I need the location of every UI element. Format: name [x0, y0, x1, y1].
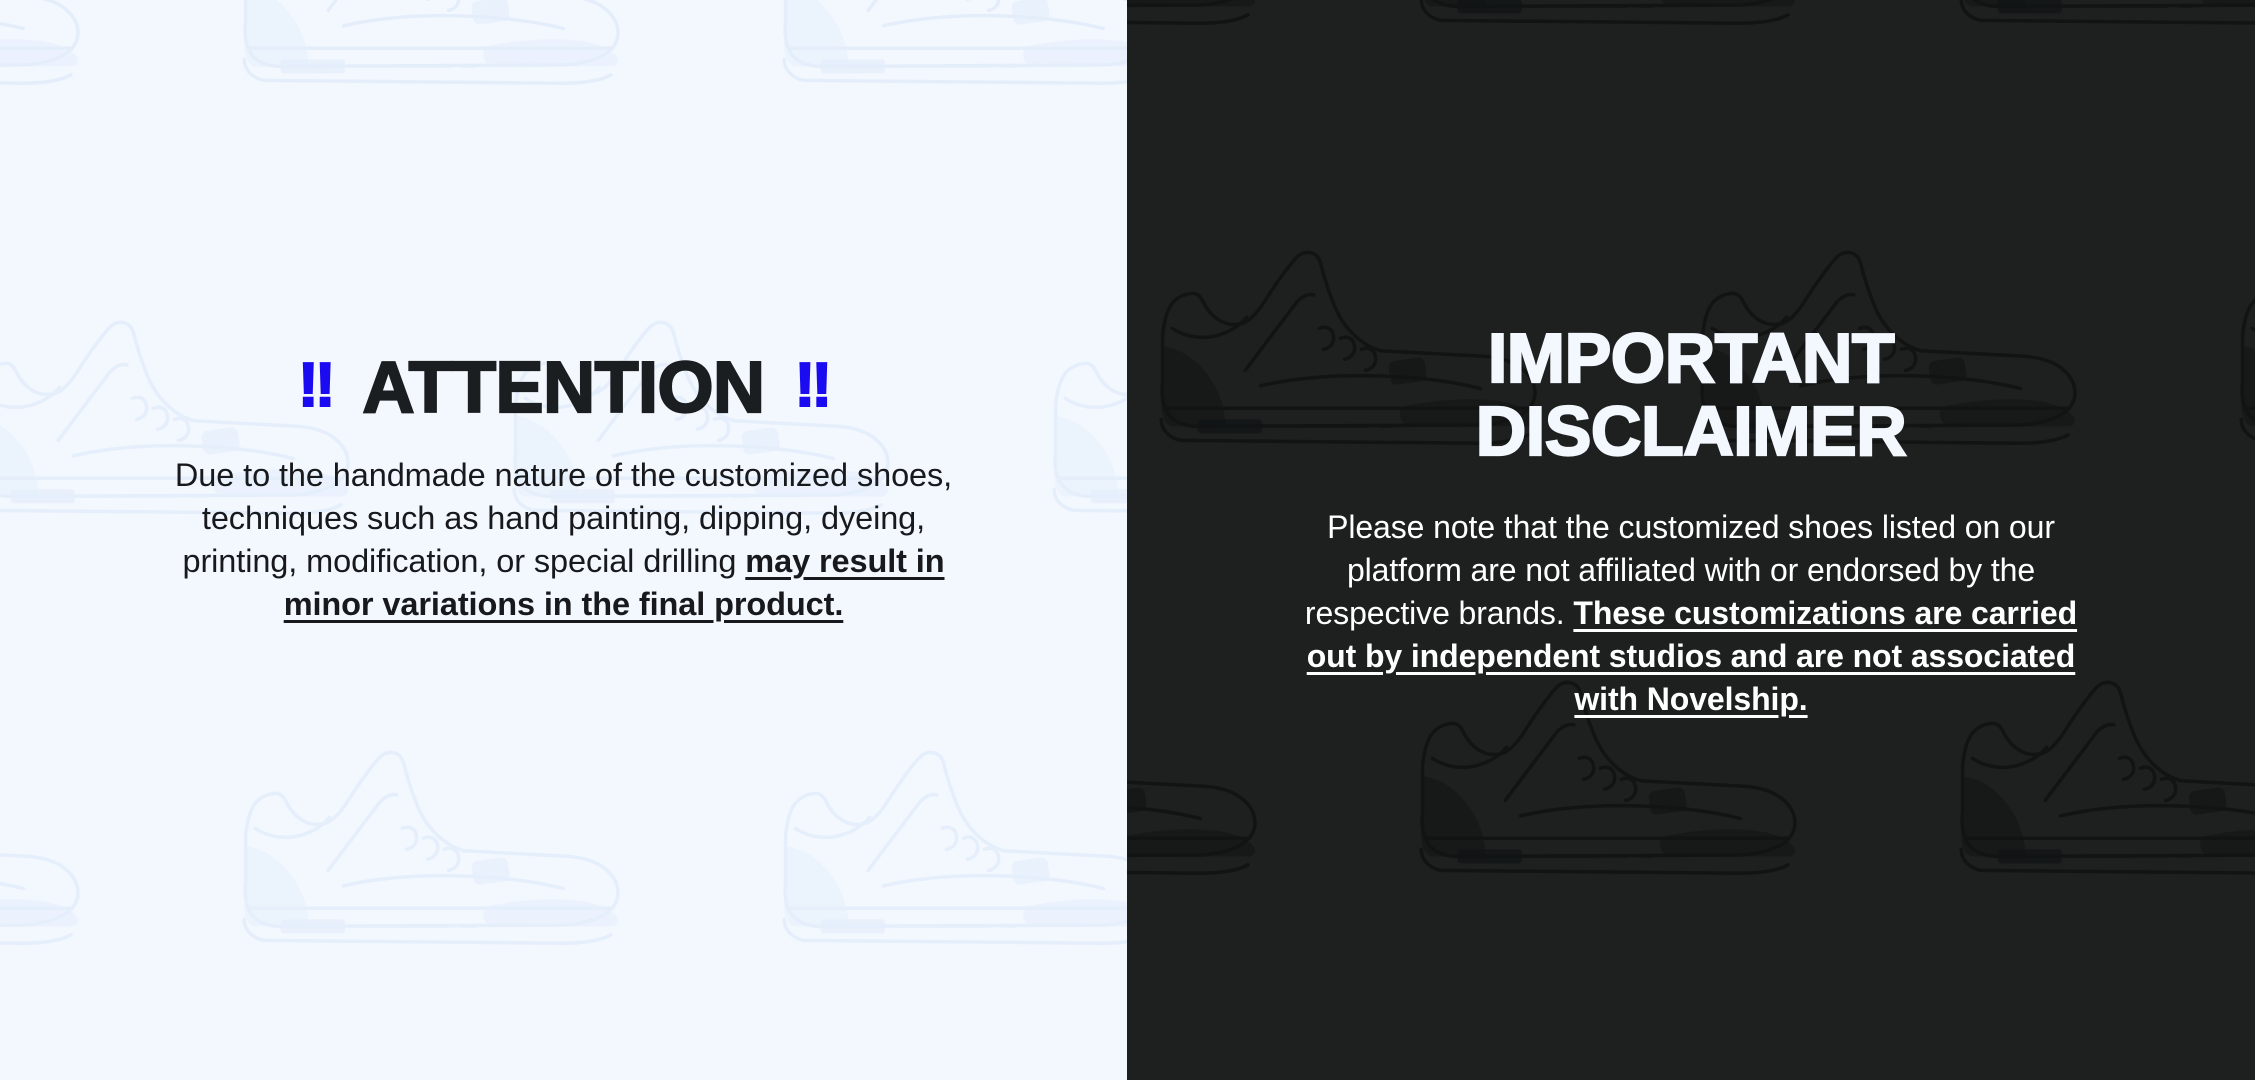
- attention-panel: ‼ ATTENTION ‼ Due to the handmade nature…: [0, 0, 1127, 1080]
- attention-body: Due to the handmade nature of the custom…: [164, 454, 964, 626]
- disclaimer-title-line-2: DISCLAIMER: [1476, 392, 1907, 470]
- disclaimer-title-line-1: IMPORTANT: [1488, 319, 1894, 397]
- double-exclamation-icon-right: ‼: [795, 355, 829, 417]
- attention-content: ‼ ATTENTION ‼ Due to the handmade nature…: [0, 0, 1127, 626]
- attention-title: ATTENTION: [362, 352, 764, 424]
- disclaimer-content: IMPORTANT DISCLAIMER Please note that th…: [1127, 0, 2255, 721]
- attention-heading-row: ‼ ATTENTION ‼: [298, 352, 829, 424]
- disclaimer-body: Please note that the customized shoes li…: [1284, 506, 2099, 721]
- disclaimer-panel: IMPORTANT DISCLAIMER Please note that th…: [1127, 0, 2255, 1080]
- double-exclamation-icon-left: ‼: [298, 355, 332, 417]
- disclaimer-banner: ‼ ATTENTION ‼ Due to the handmade nature…: [0, 0, 2255, 1080]
- disclaimer-title: IMPORTANT DISCLAIMER: [1476, 322, 1907, 468]
